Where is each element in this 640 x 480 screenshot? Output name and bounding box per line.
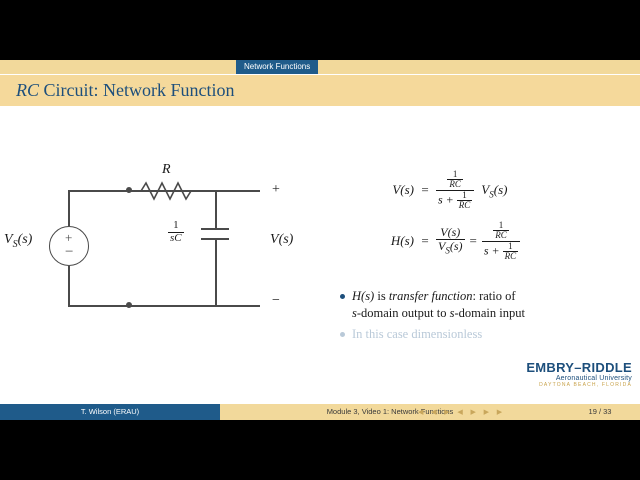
footer-page-number: 19 / 33 [560, 404, 640, 420]
resistor-label: R [162, 162, 171, 178]
header-section-tab[interactable]: Network Functions [236, 60, 318, 74]
equation-2-num: 1 RC [482, 221, 520, 241]
wire-out-top [215, 190, 260, 192]
output-plus-sign: + [272, 182, 280, 198]
equation-2-den: s + 1 RC [482, 241, 520, 262]
equation-row-vs: V(s) = 1 RC s + 1 RC [360, 170, 620, 211]
equation-1-den-n: 1 [457, 191, 473, 200]
equation-1-lhs: V(s) [360, 182, 414, 198]
output-voltage-label: V(s) [270, 232, 293, 248]
source-minus-sign: − [65, 244, 73, 261]
bullet-list: H(s) is transfer function: ratio of s-do… [340, 288, 636, 347]
bullet-text-2: In this case dimensionless [352, 326, 482, 343]
page-title-rest: Circuit: Network Function [39, 80, 234, 100]
bullet-text-1: H(s) is transfer function: ratio of s-do… [352, 288, 525, 322]
title-rule [0, 74, 640, 75]
equation-2-ratio-den: VS(s) [436, 239, 465, 256]
equation-2-lhs: H(s) [360, 233, 414, 249]
equation-2-den-lead: s + [484, 243, 500, 257]
equation-2-num-d: RC [493, 230, 509, 240]
output-voltage-symbol: V [270, 232, 279, 247]
equation-1-num-d: RC [447, 179, 463, 189]
footer: T. Wilson (ERAU) Module 3, Video 1: Netw… [0, 404, 640, 420]
resistor-symbol [136, 179, 198, 203]
footer-center-title: Module 3, Video 1: Network Functions [220, 404, 560, 420]
wire-left-top [68, 190, 70, 226]
logo-line-2: Aeronautical University [526, 375, 632, 382]
equation-1-fraction: 1 RC s + 1 RC [436, 170, 474, 211]
page-title-italic: RC [16, 80, 39, 100]
bullet-1-is: is [374, 289, 389, 303]
source-voltage-label: VS(s) [4, 232, 32, 250]
institution-logo: EMBRY–RIDDLE Aeronautical University DAY… [526, 360, 632, 388]
equation-2-ratio-num: V(s) [436, 226, 465, 239]
equation-2-equals-2: = [470, 233, 477, 249]
bullet-dot-icon-dim [340, 332, 345, 337]
equation-2-den-d: RC [503, 251, 519, 261]
equation-2-fraction: 1 RC s + 1 RC [482, 221, 520, 262]
logo-line-1: EMBRY–RIDDLE [526, 360, 632, 375]
footer-author: T. Wilson (ERAU) [0, 404, 220, 420]
equation-2-den-n: 1 [503, 242, 519, 251]
logo-line-3: DAYTONA BEACH, FLORIDA [526, 382, 632, 388]
header-bar [0, 60, 640, 74]
bullet-1-term: transfer function [389, 289, 473, 303]
source-voltage-symbol: V [4, 232, 13, 247]
capacitor-impedance-numerator: 1 [168, 220, 184, 232]
node-top-left [126, 187, 132, 193]
node-bottom-left [126, 302, 132, 308]
equation-1-den-d: RC [457, 200, 473, 210]
equation-1-num-n: 1 [447, 170, 463, 179]
bullet-1-hs: H(s) [352, 289, 374, 303]
bullet-1-mid: -domain output to [357, 306, 450, 320]
output-voltage-arg: (s) [279, 232, 294, 247]
capacitor-impedance-label: 1 sC [168, 220, 184, 244]
equation-2-ratio-den-arg: (s) [450, 239, 463, 253]
bullet-item-transfer-function: H(s) is transfer function: ratio of s-do… [340, 288, 636, 322]
equation-block: V(s) = 1 RC s + 1 RC [360, 170, 620, 272]
output-minus-sign: − [272, 293, 280, 309]
equation-2-ratio: V(s) VS(s) [436, 226, 465, 255]
capacitor-impedance-denominator: sC [168, 232, 184, 245]
capacitor-plate-top [201, 228, 229, 230]
bullet-item-dimensionless: In this case dimensionless [340, 326, 636, 343]
equation-2-num-n: 1 [493, 221, 509, 230]
bullet-dot-icon [340, 294, 345, 299]
bullet-1-end: -domain input [454, 306, 524, 320]
equation-row-h: H(s) = V(s) VS(s) = 1 RC [360, 221, 620, 262]
equation-1-den-lead: s + [438, 193, 454, 207]
page-title: RC Circuit: Network Function [16, 80, 235, 101]
wire-cap-top [215, 190, 217, 228]
equation-1-den: s + 1 RC [436, 190, 474, 211]
wire-left-bottom [68, 266, 70, 306]
slide: Network Functions RC Circuit: Network Fu… [0, 60, 640, 420]
footer-nav-icons[interactable]: ◀ ◀ ▶ ◀ ▶ ▶ ▶ [418, 404, 505, 420]
wire-out-bottom [215, 305, 260, 307]
equation-1-num: 1 RC [436, 170, 474, 190]
equation-1-tail-arg: (s) [494, 182, 508, 197]
equation-2-equals: = [414, 233, 436, 249]
wire-cap-bottom [215, 238, 217, 306]
circuit-diagram: + − R 1 sC + − V(s) [0, 160, 330, 340]
source-voltage-arg: (s) [18, 232, 33, 247]
bullet-1-tail: : ratio of [473, 289, 516, 303]
equation-1-tail: VS(s) [481, 182, 507, 200]
equation-1-equals: = [414, 182, 436, 198]
